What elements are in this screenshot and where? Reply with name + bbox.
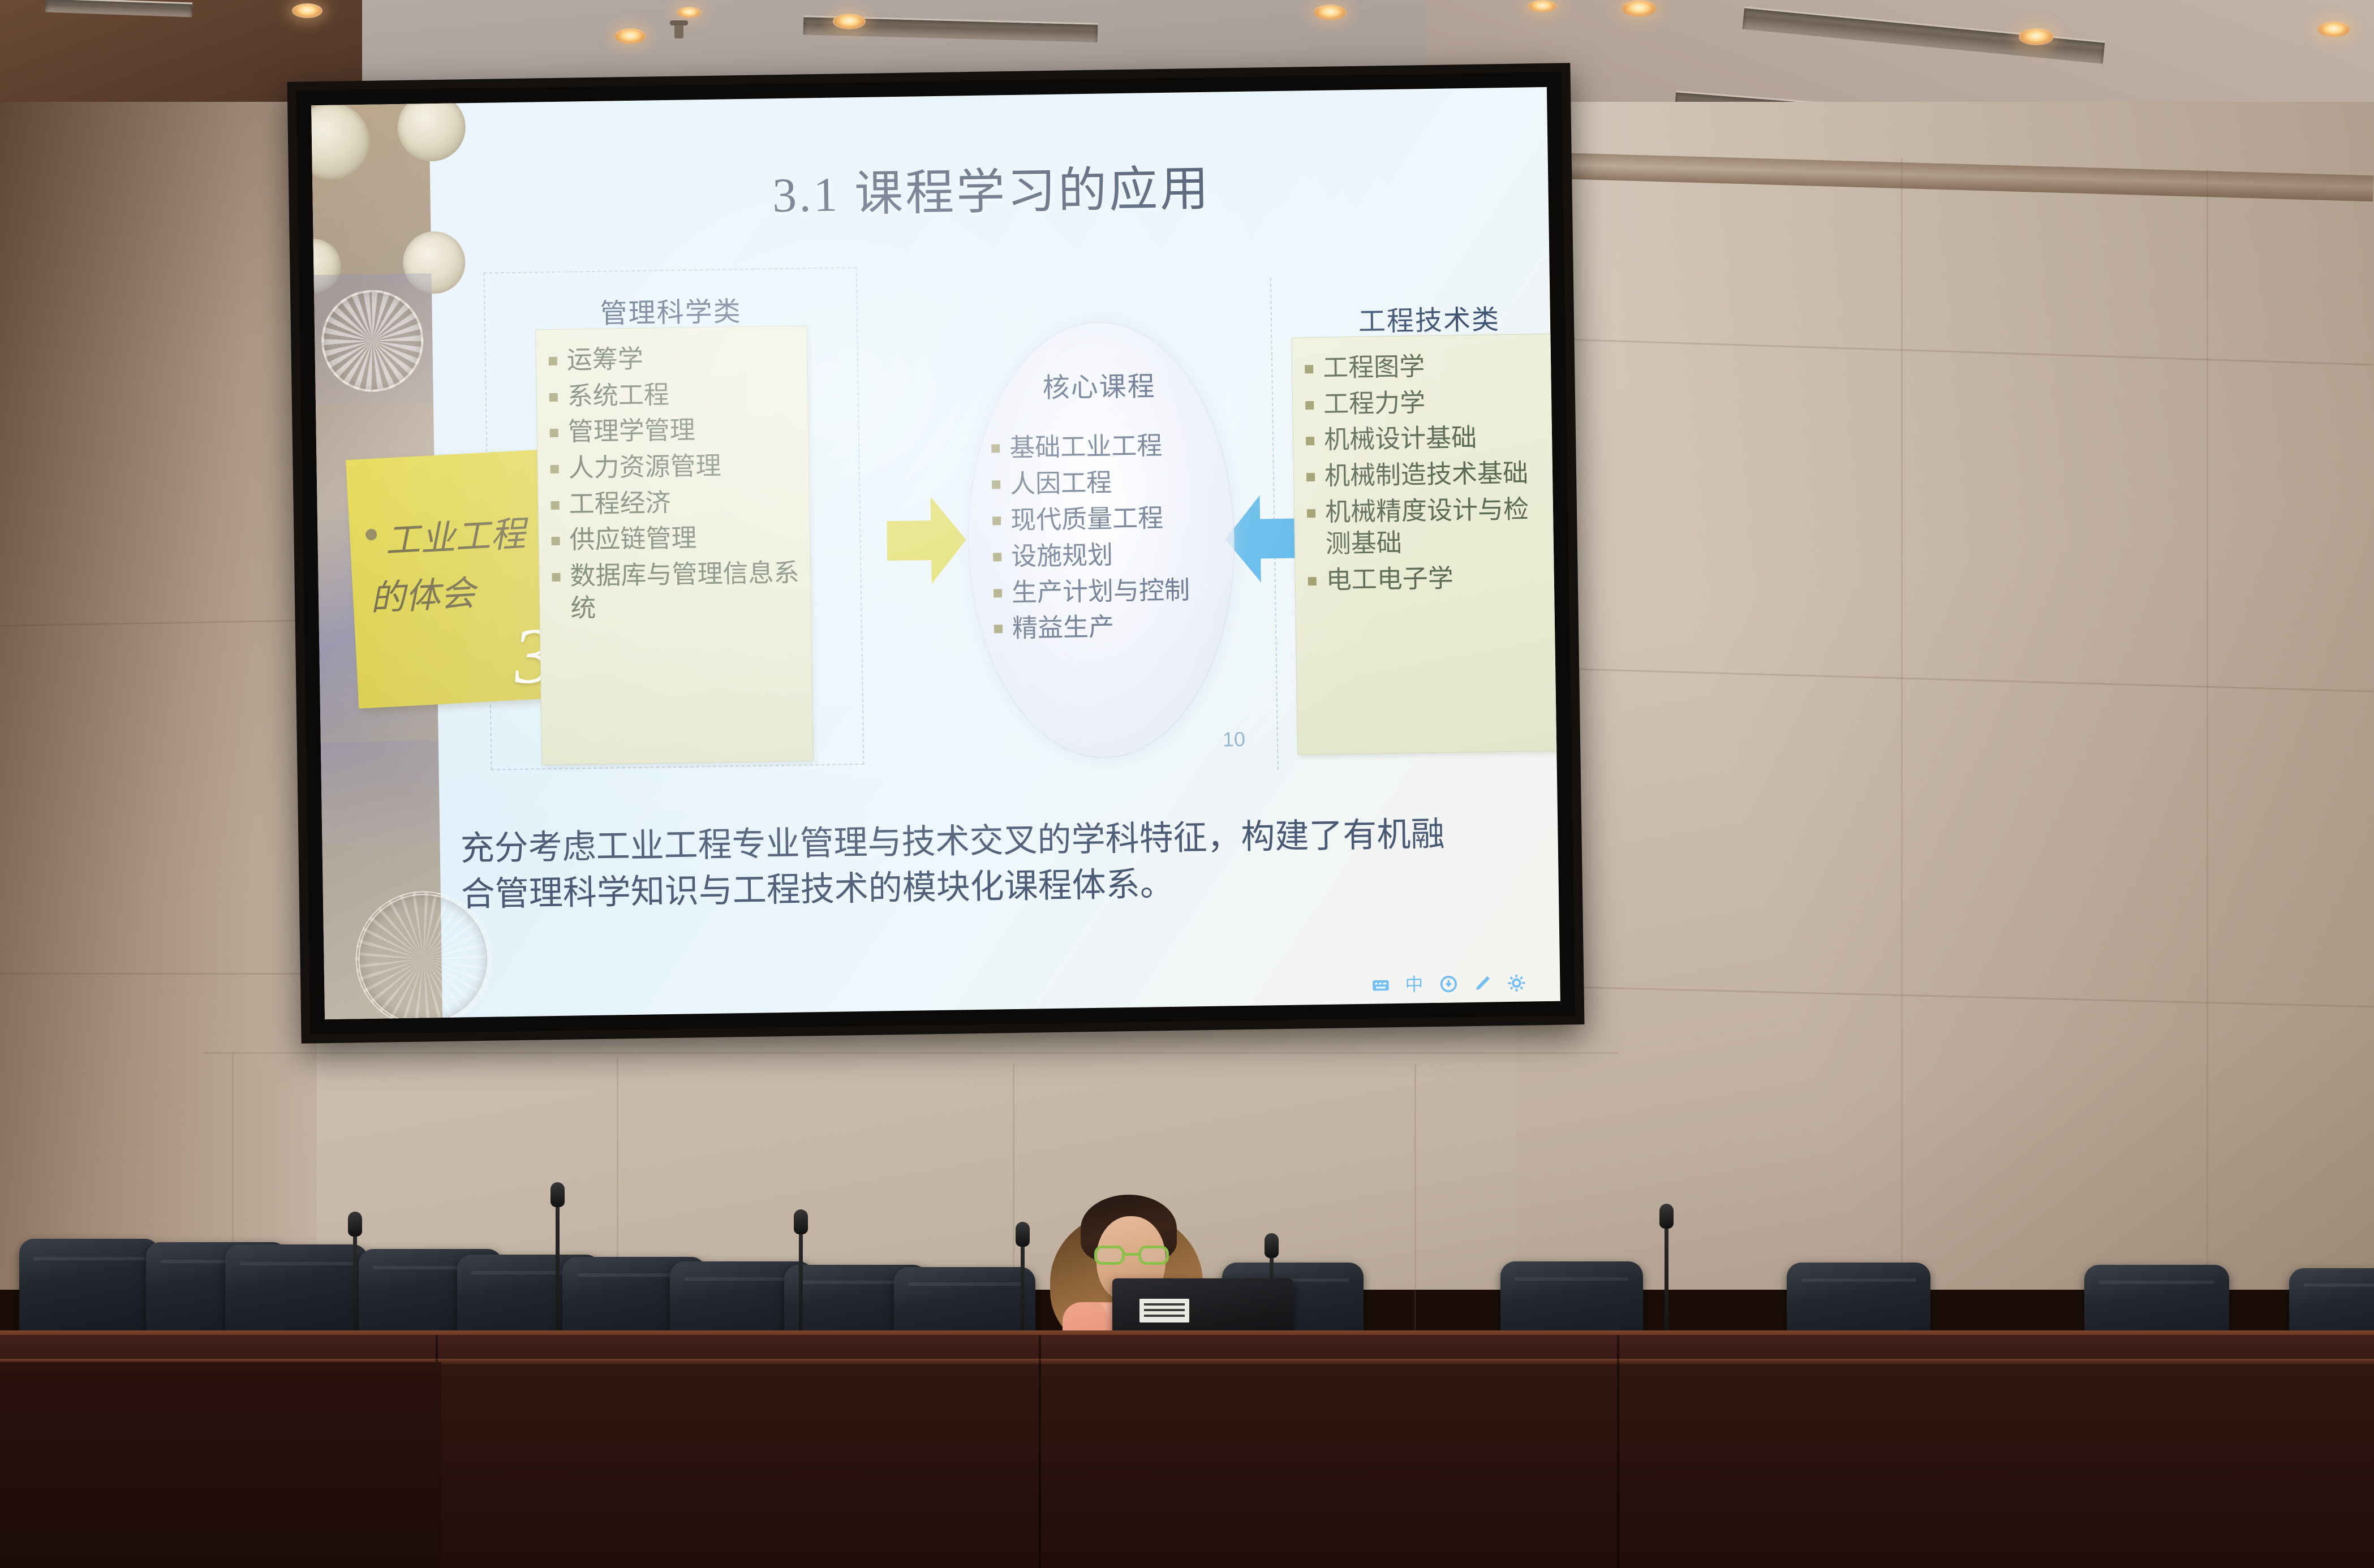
list-item: 精益生产: [991, 609, 1191, 648]
desk-panel-seam-2: [1039, 1335, 1041, 1568]
list-item: 工程图学: [1300, 349, 1547, 385]
sprinkler-head: [674, 24, 683, 38]
downlight-8: [2019, 28, 2054, 45]
list-item: 机械制造技术基础: [1302, 457, 1549, 493]
wall-seam-vertical-6: [1414, 1063, 1416, 1335]
list-item: 供应链管理: [547, 521, 799, 557]
lecture-hall-scene: 3.1 课程学习的应用 工业工程 的体会 3 管理科学类 运筹学 系统工程: [0, 0, 2374, 1568]
tab-bullet-icon: [365, 529, 377, 541]
ime-toolbar[interactable]: 中: [1371, 973, 1526, 995]
deco-blue-band-2: [321, 740, 440, 844]
list-item: 现代质量工程: [989, 500, 1189, 539]
center-group-ellipse: 核心课程 基础工业工程 人因工程 现代质量工程 设施规划 生产计划与控制 精益生…: [965, 320, 1237, 760]
presenter-glasses: [1094, 1246, 1169, 1265]
presentation-slide: 3.1 课程学习的应用 工业工程 的体会 3 管理科学类 运筹学 系统工程: [311, 87, 1560, 1019]
desk-panel-seam-3: [1617, 1335, 1619, 1568]
right-group-box: 工程图学 工程力学 机械设计基础 机械制造技术基础 机械精度设计与检测基础 电工…: [1291, 334, 1560, 755]
slide-title: 3.1 课程学习的应用: [527, 145, 1456, 229]
list-item: 工程经济: [546, 485, 799, 520]
list-item: 机械精度设计与检测基础: [1302, 493, 1550, 561]
deco-disc-2: [397, 93, 466, 162]
slide-body-paragraph: 充分考虑工业工程专业管理与技术交叉的学科特征，构建了有机融合管理科学知识与工程技…: [460, 811, 1457, 917]
list-item: 系统工程: [544, 377, 797, 412]
wall-seam-mid: [204, 1052, 1618, 1054]
list-item: 数据库与管理信息系统: [547, 557, 801, 625]
center-group-heading: 核心课程: [966, 363, 1232, 406]
presenter-glasses-right-lens: [1138, 1246, 1169, 1265]
center-group-list: 基础工业工程 人因工程 现代质量工程 设施规划 生产计划与控制 精益生产: [988, 428, 1191, 648]
handwriting-pen-icon[interactable]: [1473, 973, 1493, 993]
downlight-10: [677, 7, 702, 18]
chinese-mode-icon[interactable]: 中: [1405, 975, 1425, 994]
presenter-glasses-left-lens: [1094, 1246, 1125, 1265]
tab-label-line1: 工业工程: [384, 505, 526, 563]
wall-left-shadow: [0, 102, 317, 1290]
downlight-11: [1528, 0, 1557, 12]
list-item: 工程力学: [1301, 385, 1548, 421]
left-group-list: 运筹学 系统工程 管理学管理 人力资源管理 工程经济 供应链管理 数据库与管理信…: [544, 341, 800, 625]
wall-right-shadow: [1516, 102, 2374, 1290]
slide-page-number: 10: [1223, 727, 1246, 752]
tab-label-line2: 的体会: [369, 565, 477, 621]
list-item: 生产计划与控制: [990, 572, 1190, 611]
list-item: 运筹学: [544, 341, 797, 377]
downlight-9: [2317, 21, 2350, 37]
downlight-3: [614, 28, 646, 44]
desk-left-lower-panel: [0, 1362, 441, 1568]
downlight-1: [292, 3, 322, 18]
deco-disc-1: [311, 102, 370, 180]
left-group-box: 运筹学 系统工程 管理学管理 人力资源管理 工程经济 供应链管理 数据库与管理信…: [535, 325, 813, 765]
downlight-2: [833, 14, 866, 29]
arrow-left-engineering-to-core: [1224, 490, 1305, 587]
laptop-sticker: [1139, 1299, 1189, 1323]
list-item: 人因工程: [988, 464, 1189, 503]
voice-input-icon[interactable]: [1439, 974, 1459, 994]
projection-screen-inner-bezel: 3.1 课程学习的应用 工业工程 的体会 3 管理科学类 运筹学 系统工程: [296, 72, 1575, 1035]
projection-screen-frame: 3.1 课程学习的应用 工业工程 的体会 3 管理科学类 运筹学 系统工程: [287, 63, 1585, 1043]
arrow-right-management-to-core: [886, 492, 967, 589]
list-item: 设施规划: [990, 536, 1190, 575]
downlight-6: [1622, 0, 1657, 17]
right-group-heading: 工程技术类: [1281, 296, 1560, 340]
downlight-4: [1314, 5, 1347, 20]
list-item: 管理学管理: [545, 413, 798, 449]
list-item: 机械设计基础: [1301, 421, 1549, 456]
right-group-list: 工程图学 工程力学 机械设计基础 机械制造技术基础 机械精度设计与检测基础 电工…: [1300, 349, 1550, 597]
list-item: 电工电子学: [1303, 561, 1550, 597]
keyboard-icon[interactable]: [1371, 975, 1391, 995]
presenter-glasses-bridge: [1125, 1253, 1138, 1256]
list-item: 人力资源管理: [545, 449, 798, 485]
list-item: 基础工业工程: [988, 428, 1188, 467]
settings-gear-icon[interactable]: [1507, 973, 1526, 993]
